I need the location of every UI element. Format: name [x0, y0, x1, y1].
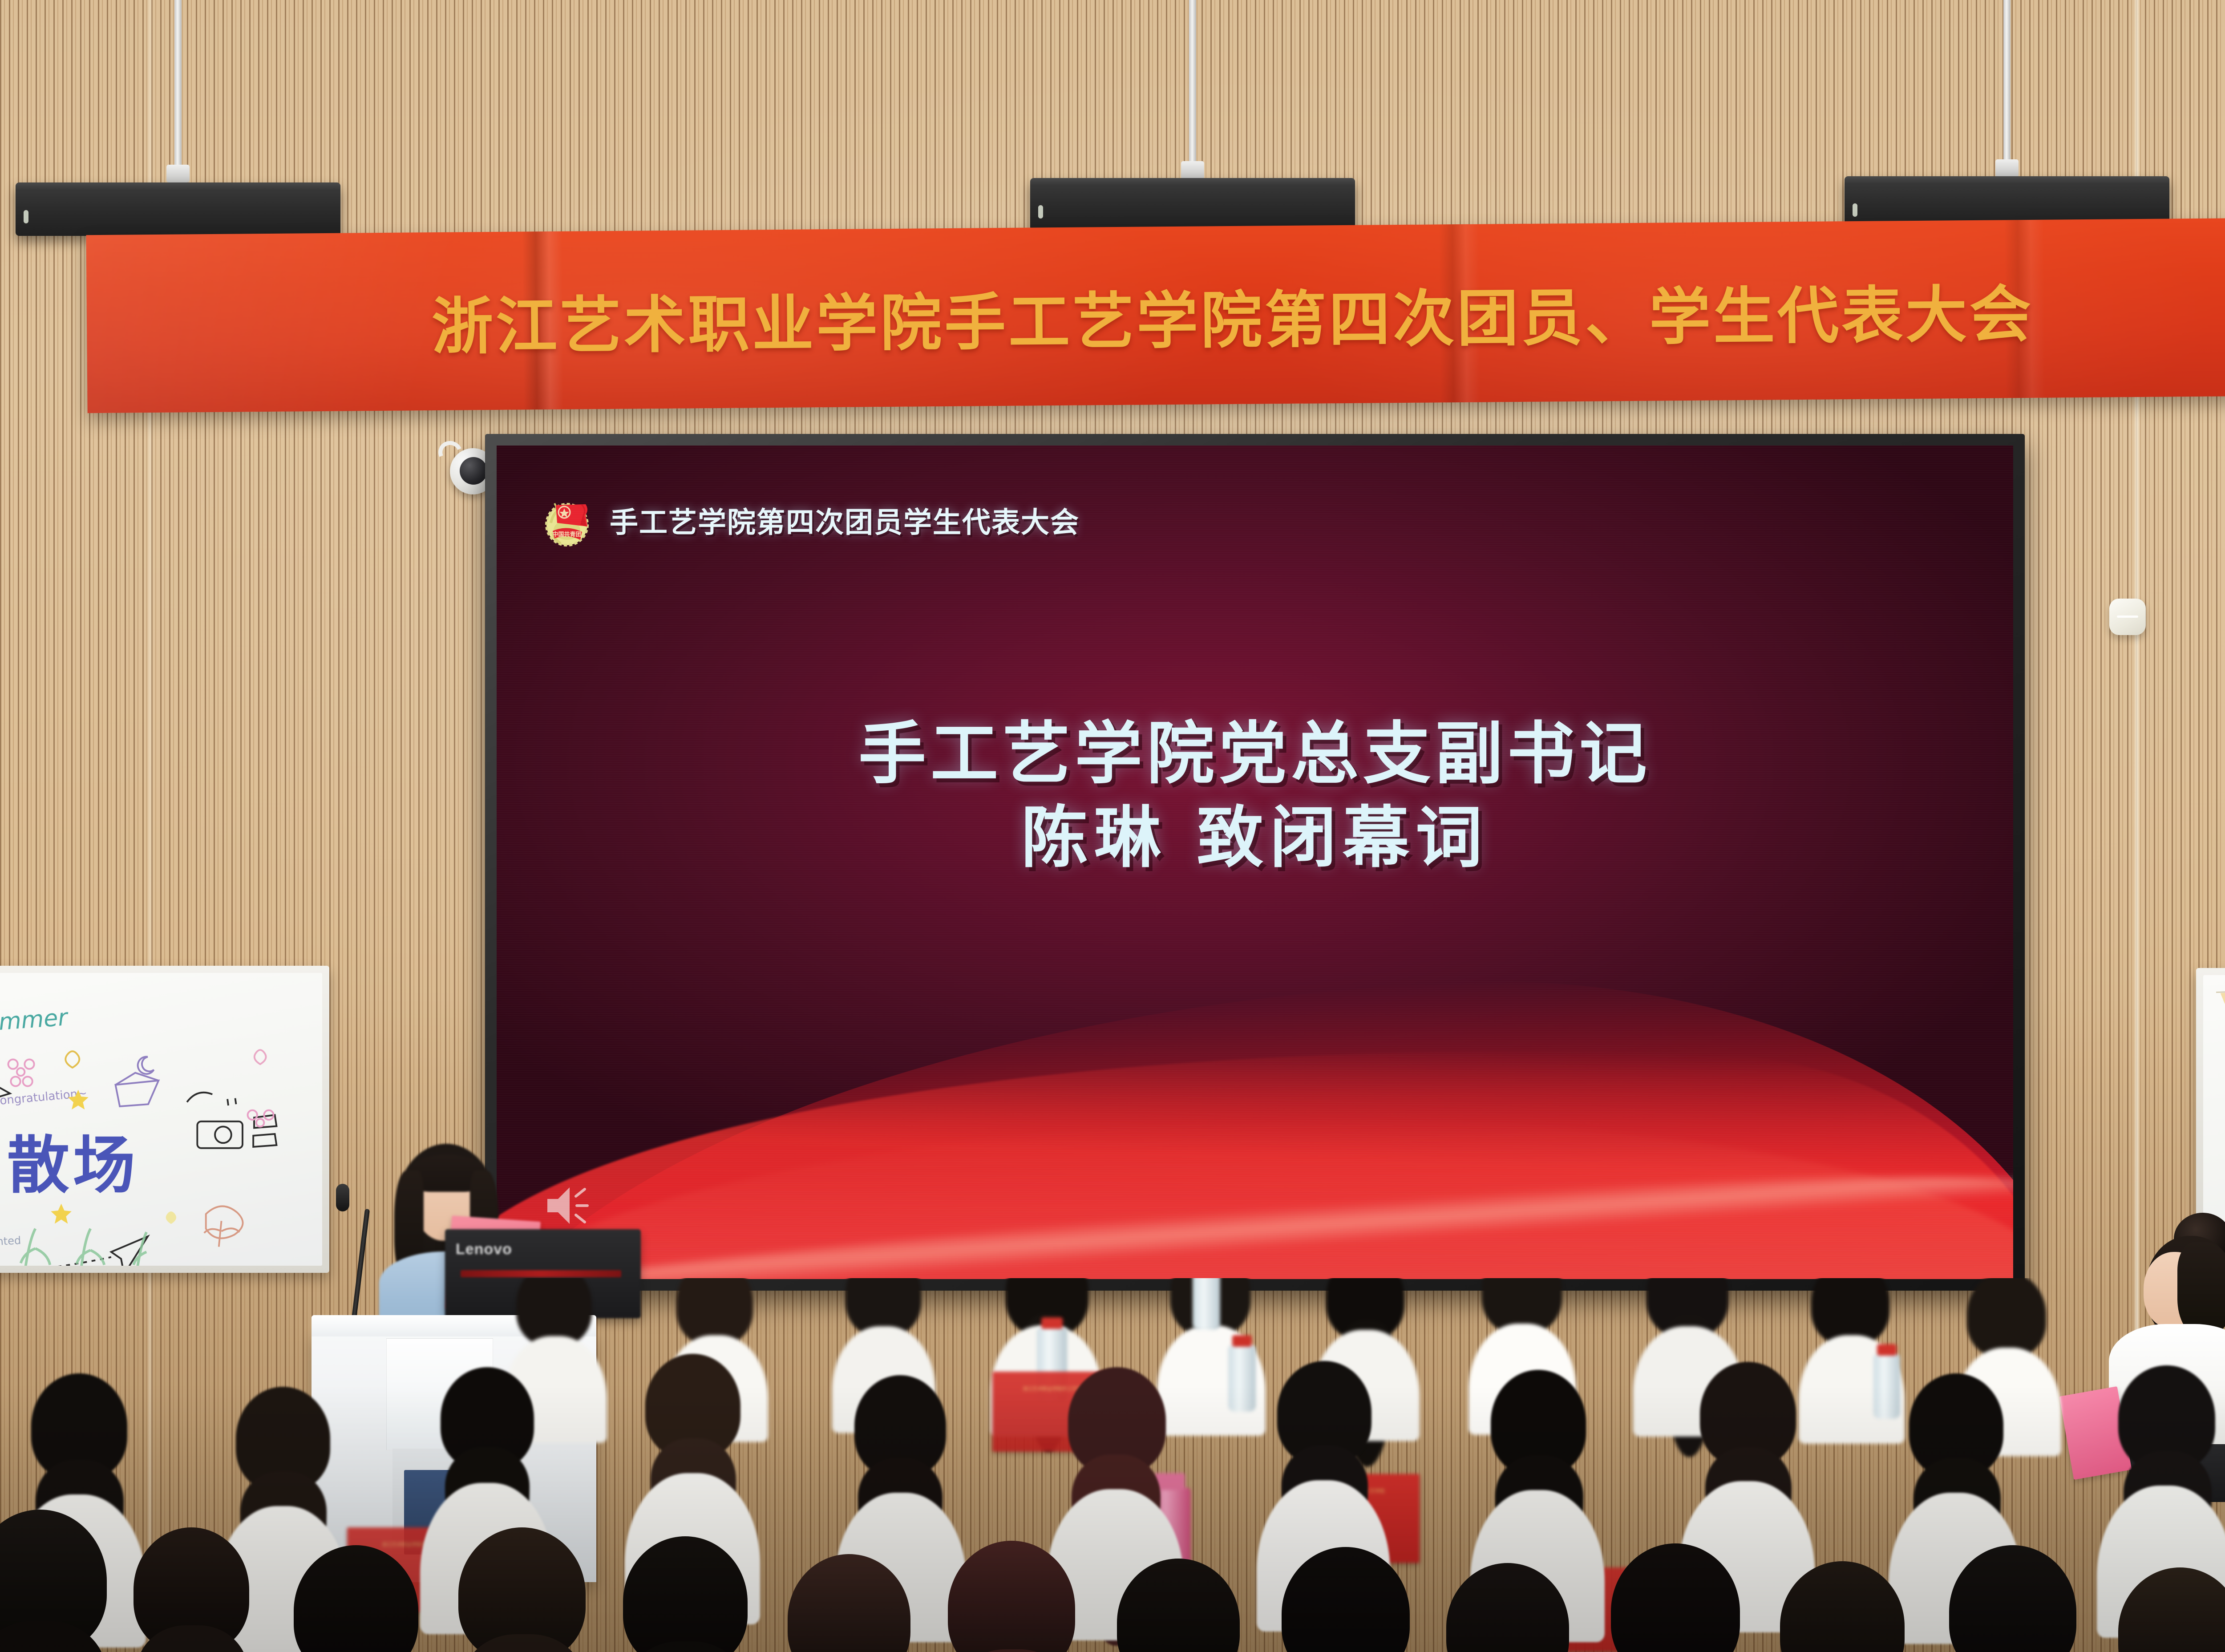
speaker-pole-bracket [1181, 161, 1204, 179]
slide-header: 中国共青团 手工艺学院第四次团员学生代表大会 [541, 494, 1080, 547]
slide-main-title: 手工艺学院党总支副书记 陈琳 致闭幕词 [497, 713, 2013, 882]
microphone-head [336, 1184, 349, 1211]
water-bottle [1193, 1278, 1220, 1330]
ceiling-speaker-mount [1028, 0, 1357, 249]
speaker-pole-bracket [166, 165, 190, 182]
hair [458, 1527, 586, 1652]
presentation-slide: 中国共青团 手工艺学院第四次团员学生代表大会 手工艺学院党总支副书记 陈琳 致闭… [497, 445, 2013, 1279]
monitor-accent-bar [461, 1270, 621, 1277]
red-silk-graphic [497, 929, 2013, 1279]
speaker-pole [174, 0, 182, 178]
banner-title: 浙江艺术职业学院手工艺学院第四次团员、学生代表大会 [86, 262, 2225, 368]
ceiling-speaker [1030, 178, 1355, 231]
auditorium-scene: 浙江艺术职业学院手工艺学院第四次团员、学生代表大会 [0, 0, 2225, 1652]
monitor-brand-label: Lenovo [456, 1241, 512, 1258]
speaker-pole [2003, 0, 2011, 173]
whiteboard-left: ing Summer Congratulation~ 散场 春 happy de… [0, 966, 329, 1273]
ceiling-speaker-mount [1842, 0, 2172, 249]
ceiling-speaker-mount [13, 0, 343, 249]
slide-title-line1: 手工艺学院党总支副书记 [497, 713, 2013, 795]
svg-text:中国共青团: 中国共青团 [552, 531, 581, 538]
wifi-access-point-icon [2109, 599, 2146, 635]
speaker-pole [1189, 0, 1196, 174]
doodle-graphics [0, 973, 322, 1266]
bottle-cap [1877, 1344, 1896, 1356]
event-banner: 浙江艺术职业学院手工艺学院第四次团员、学生代表大会 [86, 217, 2225, 413]
led-display: 中国共青团 手工艺学院第四次团员学生代表大会 手工艺学院党总支副书记 陈琳 致闭… [485, 434, 2025, 1291]
whiteboard-left-surface: ing Summer Congratulation~ 散场 春 happy de… [0, 973, 322, 1266]
bottle-cap [1041, 1317, 1063, 1329]
hair [1967, 1278, 2046, 1357]
slide-title-line2: 陈琳 致闭幕词 [497, 795, 2013, 882]
slide-header-title: 手工艺学院第四次团员学生代表大会 [610, 500, 1080, 541]
water-bottle [1873, 1354, 1900, 1419]
speaker-pole-bracket [1995, 159, 2019, 177]
communist-youth-league-emblem-icon: 中国共青团 [541, 494, 595, 547]
bottle-cap [1232, 1335, 1252, 1347]
audience: 浙江艺术职业学院手工艺学院 周 浙江艺术职业学院手工艺学院 浙江艺术职业学院手工… [0, 1278, 2225, 1652]
water-bottle [1228, 1345, 1256, 1412]
ceiling-speaker [16, 182, 340, 236]
